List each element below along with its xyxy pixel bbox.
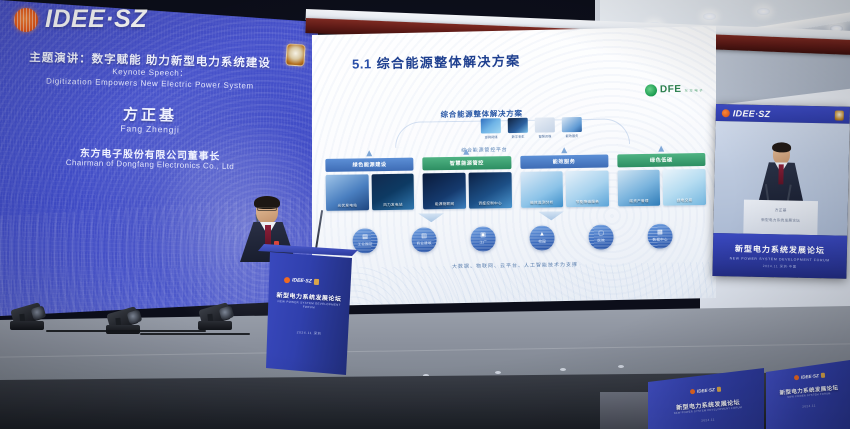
podium-logo-text: IDEE·SZ (292, 277, 312, 284)
city-thumbnail-icon (508, 118, 528, 133)
circle-item: ▦数据中心 (647, 224, 672, 249)
projection-screen: 5.1综合能源整体解决方案 DFE 东方电子 综合能源整体解决方案 源网荷储 数… (312, 26, 716, 306)
thumbnail-label: 源网荷储 (481, 134, 501, 139)
floor-marker (618, 365, 624, 368)
monitor-caption-en: NEW POWER SYSTEM DEVELOPMENT FORUM (730, 256, 830, 262)
tile-image: 光伏发电站 (326, 174, 369, 211)
circle-item: ▥商业建筑 (411, 227, 436, 252)
circle-item: ▲校园 (529, 225, 554, 250)
tile-image: 风力发电站 (371, 174, 414, 211)
slide-title: 5.1综合能源整体解决方案 (352, 50, 521, 72)
grid-thumbnail-icon (481, 118, 501, 133)
diagram-column: 绿色能源建设 光伏发电站 风力发电站 (325, 158, 414, 211)
dfe-logo-text: DFE (660, 85, 682, 95)
up-arrow-icon (366, 150, 372, 156)
conference-stage-photo: IDEE·SZ 主题演讲：数字赋能 助力新型电力系统建设 Keynote Spe… (0, 0, 850, 429)
feed-podium-line1: 方正基 (744, 208, 818, 215)
tile-label: 风力发电站 (372, 203, 415, 209)
light-base (198, 321, 232, 330)
tile-label: 调度控制中心 (469, 201, 512, 207)
light-lens-icon (127, 309, 143, 324)
gold-seal-emblem-icon (314, 279, 319, 285)
tile-image: 调度控制中心 (468, 172, 511, 209)
circle-label: 商业建筑 (417, 241, 432, 246)
up-arrow-icon (464, 149, 470, 155)
circle-label: 数据中心 (652, 238, 667, 243)
speaking-podium (266, 252, 352, 375)
side-monitor: IDEE·SZ 方正基 新型电力系统发展论坛 新型电力系统发展论坛 NEW PO… (712, 104, 850, 279)
circle-item: ▣工厂 (470, 226, 495, 251)
wall-brand-logo-text: IDEE·SZ (45, 5, 147, 34)
gold-seal-emblem-icon (717, 387, 721, 392)
slide-diagram: 综合能源整体解决方案 源网荷储 数字孪生 智慧运维 能效服务 (310, 101, 717, 302)
column-tiles: 能效监测分析 节能降碳服务 (520, 171, 609, 208)
thumbnail-label: 能效服务 (562, 133, 582, 138)
tile-label: 碳资产管理 (618, 199, 661, 205)
tile-label: 绿电交易 (663, 198, 706, 204)
diagram-columns: 绿色能源建设 光伏发电站 风力发电站 智慧能源管控 能源物联网 调度控制中心 (325, 153, 706, 211)
thumbnail-label: 智慧运维 (535, 133, 555, 138)
floor-marker (560, 368, 566, 371)
column-caption: 智慧能源管控 (423, 156, 511, 170)
diagram-column: 能效服务 能效监测分析 节能降碳服务 (520, 155, 609, 208)
down-arrow-icon (418, 213, 444, 222)
light-lens-icon (31, 305, 47, 320)
floor-marker (495, 371, 501, 374)
factory-icon: ▤ (362, 234, 368, 240)
idee-dot-emblem-icon (284, 277, 290, 283)
diagram-circle-row: ▤工业园区 ▥商业建筑 ▣工厂 ▲校园 ▢医院 ▦数据中心 (352, 224, 672, 254)
downlight-icon (703, 13, 716, 20)
dfe-logo-sub: 东方电子 (684, 87, 704, 92)
dfe-brand-logo: DFE 东方电子 (645, 83, 704, 96)
tile-label: 能源物联网 (423, 202, 466, 208)
monitor-caption-bar: 新型电力系统发展论坛 NEW POWER SYSTEM DEVELOPMENT … (712, 233, 847, 279)
down-arrow-icon (538, 211, 564, 220)
monitor-brand-logo: IDEE·SZ (722, 108, 771, 119)
live-camera-feed: 方正基 新型电力系统发展论坛 (713, 121, 849, 236)
hospital-icon: ▢ (598, 231, 604, 237)
tile-image: 节能降碳服务 (566, 171, 609, 208)
column-tiles: 光伏发电站 风力发电站 (326, 174, 415, 211)
tile-image: 碳资产管理 (617, 170, 660, 207)
tile-label: 节能降碳服务 (566, 200, 609, 206)
tile-image: 绿电交易 (663, 169, 706, 206)
glasses-icon (257, 207, 277, 211)
gold-seal-emblem-icon (835, 110, 844, 120)
circle-item: ▢医院 (588, 224, 613, 249)
feed-speaker-hair (772, 142, 791, 152)
column-caption: 绿色低碳 (617, 153, 705, 167)
slide-section-title: 综合能源整体解决方案 (376, 53, 520, 71)
tile-label: 能效监测分析 (520, 200, 563, 206)
diagram-column: 绿色低碳 碳资产管理 绿电交易 (617, 153, 706, 206)
idee-dot-emblem-icon (14, 8, 38, 32)
floor-cable (46, 330, 206, 332)
monitor-caption-cn: 新型电力系统发展论坛 (735, 243, 825, 256)
circle-label: 医院 (597, 239, 605, 244)
campus-icon: ▲ (539, 232, 545, 238)
plant-icon: ▣ (480, 232, 486, 238)
up-arrow-icon (561, 147, 567, 153)
light-lens-icon (219, 305, 235, 320)
circle-label: 工业园区 (358, 242, 373, 247)
gold-seal-emblem-icon (821, 373, 825, 378)
diagram-thumbnail-row: 源网荷储 数字孪生 智慧运维 能效服务 (481, 117, 582, 134)
idee-dot-emblem-icon (690, 389, 695, 394)
column-tiles: 碳资产管理 绿电交易 (617, 169, 706, 206)
column-caption: 能效服务 (520, 155, 608, 169)
datacenter-icon: ▦ (657, 230, 663, 236)
feed-podium: 方正基 新型电力系统发展论坛 (743, 200, 818, 236)
circle-item: ▤工业园区 (352, 228, 377, 253)
feed-podium-line2: 新型电力系统发展论坛 (744, 218, 818, 225)
light-base (10, 321, 44, 330)
monitor-caption-date: 2024.11 深圳·中国 (763, 263, 797, 269)
floor-cable (140, 333, 250, 335)
idee-dot-emblem-icon (794, 375, 799, 380)
moving-head-stage-light (104, 310, 146, 340)
thumbnail-label: 数字孪生 (508, 134, 528, 139)
up-arrow-icon (658, 146, 664, 152)
tile-image: 能源物联网 (423, 173, 466, 210)
monitor-thumbnail-icon (562, 117, 582, 132)
slide-section-number: 5.1 (352, 56, 372, 71)
people-thumbnail-icon (535, 117, 555, 132)
circle-label: 校园 (538, 240, 546, 245)
building-icon: ▥ (421, 233, 427, 239)
diagram-footer: 大数据、物联网、云平台、人工智能技术为支撑 (313, 259, 717, 272)
tile-label: 光伏发电站 (326, 203, 369, 209)
feed-speaker-tie (778, 164, 783, 184)
tile-image: 能效监测分析 (520, 171, 563, 208)
moving-head-stage-light (8, 306, 50, 336)
dfe-leaf-icon (645, 84, 657, 96)
column-caption: 绿色能源建设 (325, 158, 413, 172)
monitor-logo-text: IDEE·SZ (733, 108, 771, 119)
circle-label: 工厂 (479, 240, 487, 245)
downlight-icon (757, 8, 770, 15)
idee-dot-emblem-icon (722, 109, 730, 117)
column-tiles: 能源物联网 调度控制中心 (423, 172, 512, 209)
diagram-column: 智慧能源管控 能源物联网 调度控制中心 (423, 156, 512, 209)
wall-brand-logo: IDEE·SZ (14, 5, 147, 34)
